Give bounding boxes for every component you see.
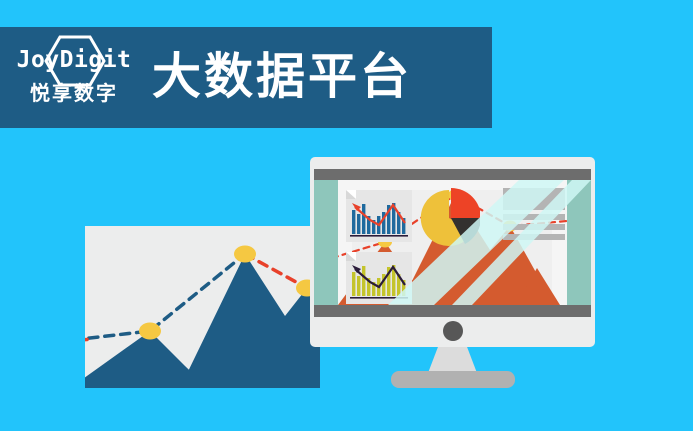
trend-line-red-stub xyxy=(85,340,87,341)
monitor-stand-base xyxy=(391,371,515,388)
screen-band-left xyxy=(314,180,338,305)
mountain-line-chart xyxy=(85,226,320,388)
text-placeholder xyxy=(503,188,565,238)
monitor-bottom-bezel xyxy=(314,305,591,317)
monitor-frame xyxy=(310,157,595,347)
left-mountain-panel xyxy=(85,226,320,388)
text-line-bar xyxy=(503,214,565,220)
bar-chart-olive xyxy=(346,252,412,304)
monitor-indicator-dot xyxy=(443,321,463,341)
header-banner: JoyDigit 悦享数字 大数据平台 xyxy=(0,27,492,128)
image-placeholder-bar xyxy=(503,188,565,210)
pie-chart xyxy=(418,187,480,249)
desktop-monitor xyxy=(310,157,595,387)
pie-slice-b xyxy=(451,188,480,218)
data-marker xyxy=(234,246,256,263)
text-line-bar xyxy=(503,234,565,240)
bar-chart-card-blue xyxy=(346,190,412,242)
monitor-top-bezel xyxy=(314,169,591,180)
brand-logo: JoyDigit 悦享数字 xyxy=(14,35,134,121)
illustration-canvas: JoyDigit 悦享数字 大数据平台 xyxy=(0,0,693,431)
data-marker xyxy=(139,323,161,340)
bottom-background-strip xyxy=(0,388,693,431)
monitor-screen xyxy=(314,180,591,305)
screen-band-right xyxy=(567,180,591,305)
bar-chart-card-olive xyxy=(346,252,412,304)
page-title: 大数据平台 xyxy=(152,53,412,102)
logo-subtitle: 悦享数字 xyxy=(30,84,118,104)
bar-chart-blue xyxy=(346,190,412,242)
mountain-shape xyxy=(180,254,320,388)
dashboard-content xyxy=(338,180,567,305)
logo-wordmark: JoyDigit xyxy=(17,49,132,72)
text-line-bar xyxy=(503,224,565,230)
